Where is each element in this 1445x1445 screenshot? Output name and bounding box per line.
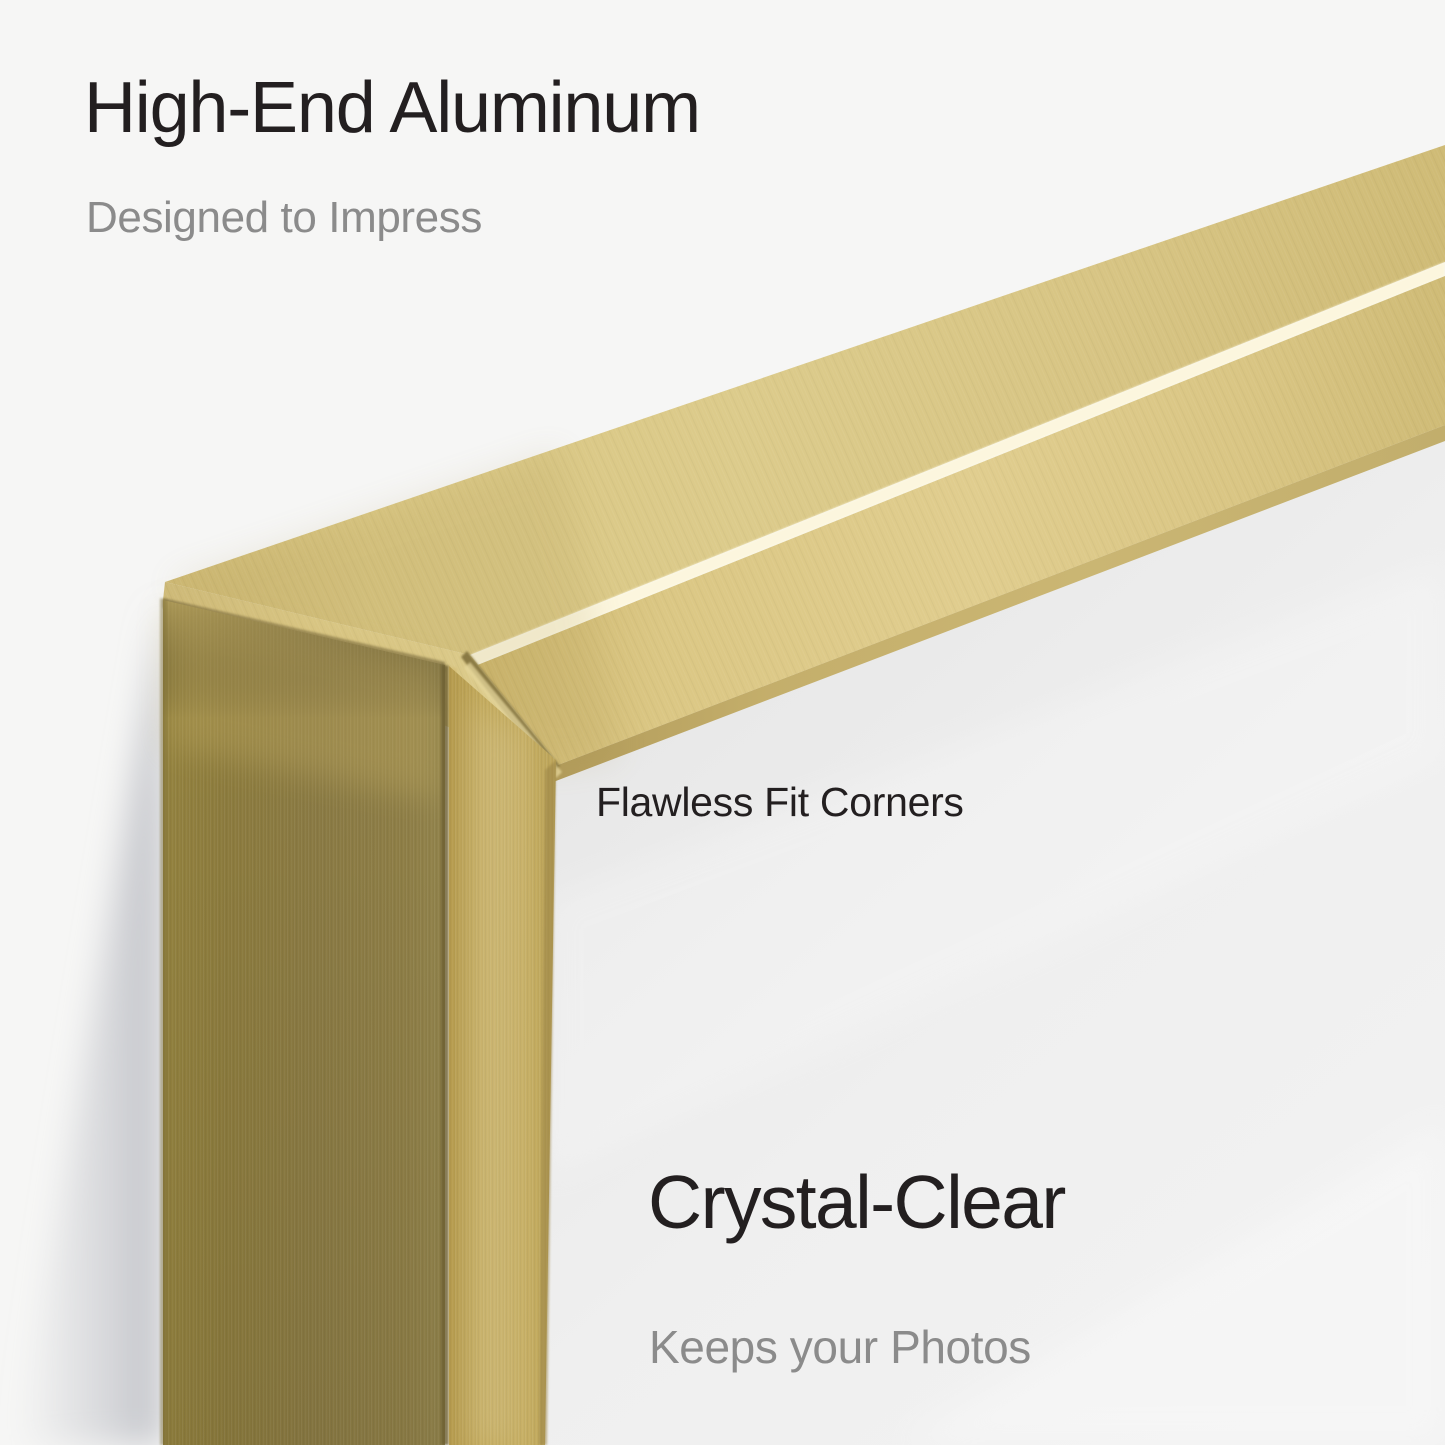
page-title: High-End Aluminum — [84, 72, 700, 144]
callout-flawless-fit-corners: Flawless Fit Corners — [596, 782, 964, 823]
callout-glass-subtext: Keeps your Photos Looking Sharp — [649, 1196, 1031, 1445]
callout-glass-subtext-line-1: Keeps your Photos — [649, 1317, 1031, 1378]
stile-outer-silhouette — [160, 598, 167, 1445]
stile-edge-arris — [441, 664, 449, 1445]
product-feature-image: High-End Aluminum Designed to Impress Fl… — [0, 0, 1445, 1445]
page-subtitle: Designed to Impress — [86, 196, 482, 240]
left-stile-inner-sheen — [470, 700, 520, 1445]
